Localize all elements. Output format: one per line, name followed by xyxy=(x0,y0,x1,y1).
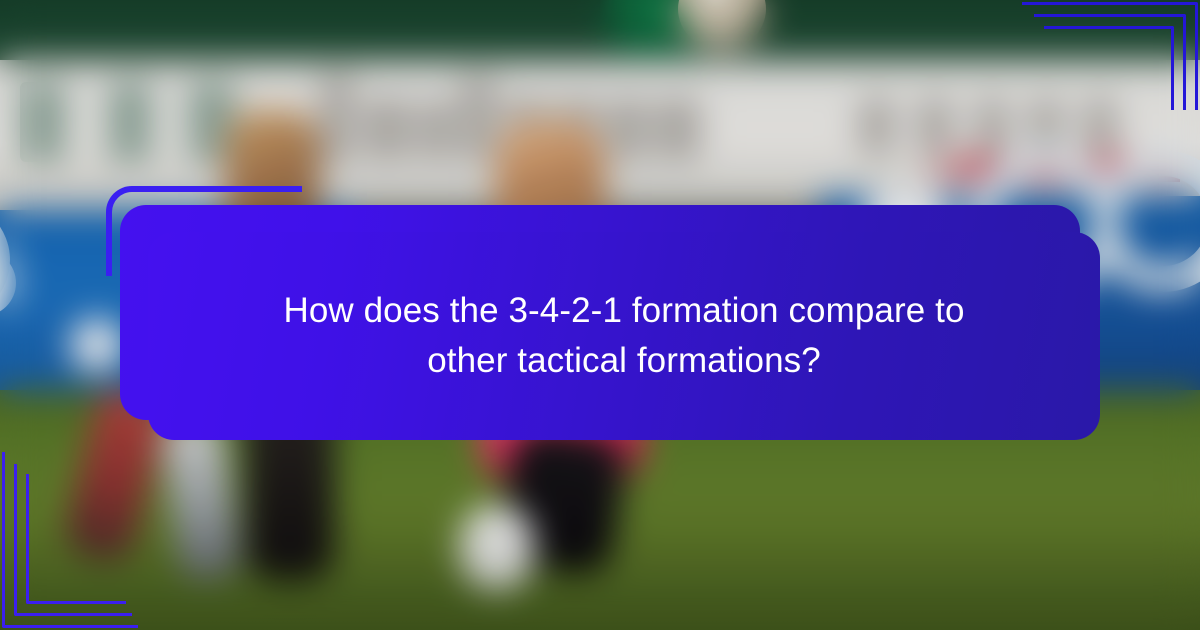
question-headline: How does the 3-4-2-1 formation compare t… xyxy=(239,286,1009,385)
card-text-area: How does the 3-4-2-1 formation compare t… xyxy=(148,232,1100,440)
poster-stage: How does the 3-4-2-1 formation compare t… xyxy=(0,0,1200,630)
question-card: How does the 3-4-2-1 formation compare t… xyxy=(0,0,1200,630)
